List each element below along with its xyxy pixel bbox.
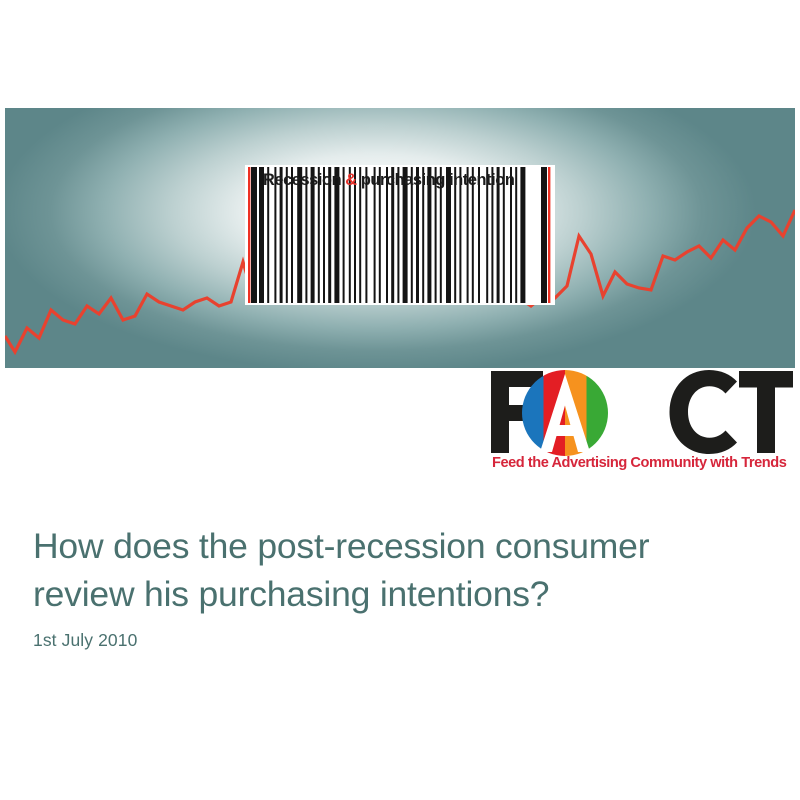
- fact-tagline: Feed the Advertising Community with Tren…: [492, 454, 792, 473]
- barcode-caption-post: purchasing intention: [357, 171, 515, 189]
- emblem-segment-orange: [565, 370, 587, 456]
- hero-banner: Recession & purchasing intention: [5, 108, 795, 368]
- fact-colour-wheel-a: [522, 370, 609, 456]
- slide-date: 1st July 2010: [33, 628, 137, 652]
- fact-wordmark: [489, 368, 795, 456]
- emblem-segment-green: [587, 370, 609, 456]
- page-title: How does the post-recession consumer rev…: [33, 522, 763, 618]
- fact-logo: Feed the Advertising Community with Tren…: [489, 368, 795, 480]
- logo-letter-c: [670, 370, 738, 454]
- barcode-guard-left: [248, 167, 250, 303]
- logo-letter-t: [739, 371, 793, 453]
- title-block: How does the post-recession consumer rev…: [33, 522, 763, 618]
- barcode-graphic: Recession & purchasing intention: [245, 165, 555, 305]
- barcode-guard-right: [548, 167, 550, 303]
- barcode-caption-ampersand: &: [345, 171, 356, 189]
- emblem-segment-red: [544, 370, 566, 456]
- barcode-caption-pre: Recession: [263, 171, 345, 189]
- barcode-caption: Recession & purchasing intention: [263, 169, 538, 191]
